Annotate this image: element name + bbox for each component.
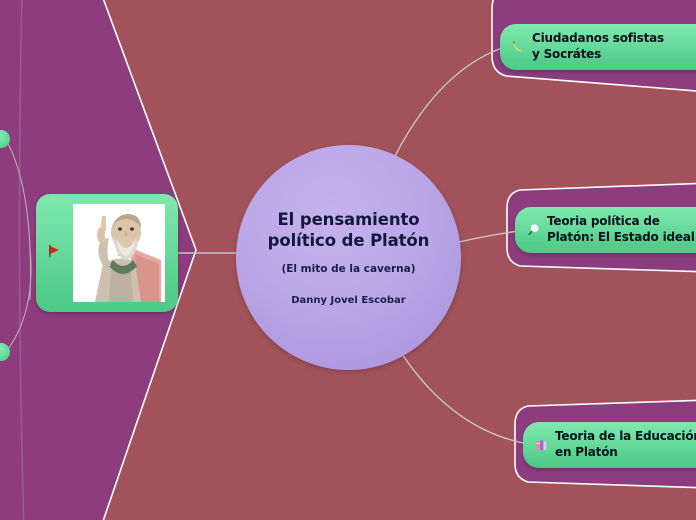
banana-icon <box>510 39 526 55</box>
node-teoria-educacion[interactable]: Teoria de la Educación en Platón <box>523 422 696 468</box>
red-flag-icon <box>46 243 64 261</box>
root-title: El pensamiento político de Platón <box>268 209 430 251</box>
node-label: Teoria de la Educación en Platón <box>555 429 696 460</box>
root-node[interactable]: El pensamiento político de Platón (El mi… <box>236 145 461 370</box>
mindmap-canvas[interactable]: Ciudadanos sofistas y Socrátes Teoria po… <box>0 0 696 520</box>
node-label: Ciudadanos sofistas y Socrátes <box>532 31 664 62</box>
plato-portrait <box>73 204 165 302</box>
node-label: Teoria política de Platón: El Estado ide… <box>547 214 695 245</box>
node-teoria-politica-estado-ideal[interactable]: Teoria política de Platón: El Estado ide… <box>515 207 696 253</box>
lightbulb-icon <box>525 222 541 238</box>
books-icon <box>533 437 549 453</box>
connector-root-to-educacion <box>400 351 528 444</box>
root-subtitle: (El mito de la caverna) <box>281 263 415 275</box>
node-ciudadanos-sofistas[interactable]: Ciudadanos sofistas y Socrátes <box>500 24 696 70</box>
root-author: Danny Jovel Escobar <box>291 295 406 306</box>
connector-root-to-sofistas <box>389 47 505 168</box>
